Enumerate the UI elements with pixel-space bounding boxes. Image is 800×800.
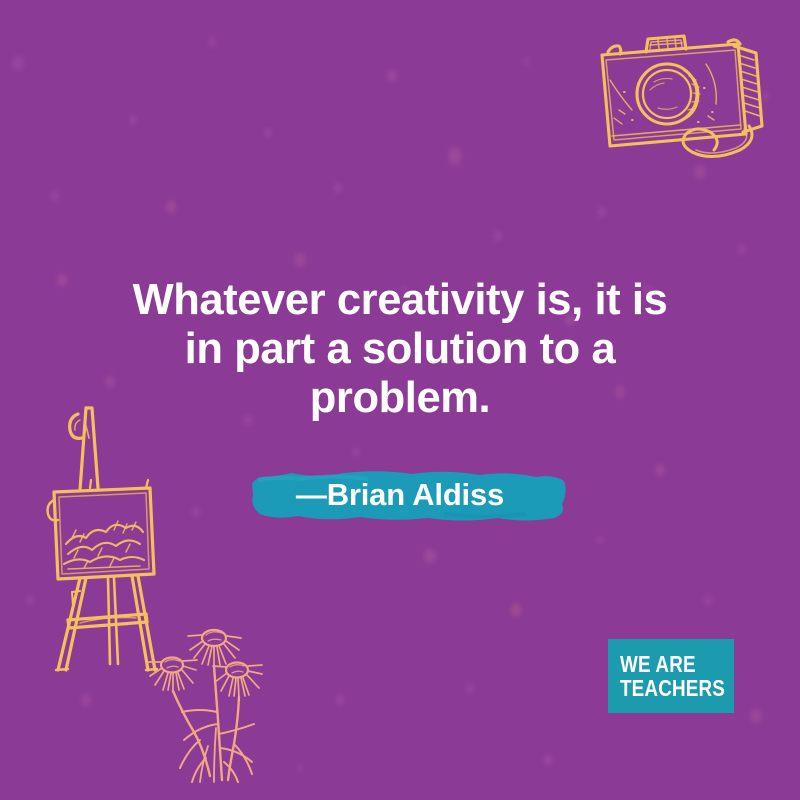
quote-line-2: in part a solution to a [60, 325, 740, 374]
we-are-teachers-logo[interactable]: WE ARE TEACHERS [608, 639, 734, 713]
attribution-label: —Brian Aldiss [0, 477, 800, 513]
quote-line-3: problem. [60, 374, 740, 423]
quote-text: Whatever creativity is, it is in part a … [60, 276, 740, 423]
attribution: —Brian Aldiss [0, 466, 800, 528]
camera-illustration [588, 22, 768, 172]
easel-illustration [28, 392, 198, 677]
logo-line-1: WE ARE [620, 652, 696, 676]
quote-line-1: Whatever creativity is, it is [60, 276, 740, 325]
quote-card: Whatever creativity is, it is in part a … [0, 0, 800, 800]
coneflowers-illustration [142, 608, 287, 783]
logo-line-2: TEACHERS [620, 676, 725, 700]
